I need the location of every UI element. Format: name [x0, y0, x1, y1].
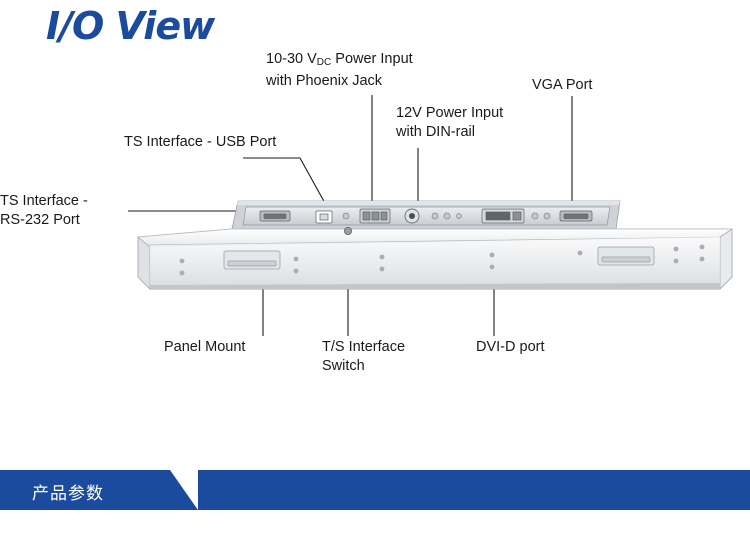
callout-dvi-d-port: DVI-D port	[476, 338, 545, 357]
callout-line-with-subscript: 10-30 VDC Power Input	[266, 50, 413, 72]
callout-line: T/S Interface	[322, 338, 405, 357]
callout-ts-interface-rs232-port: TS Interface - RS-232 Port	[0, 192, 88, 230]
footer-label: 产品参数	[32, 479, 104, 504]
callout-line: with DIN-rail	[396, 123, 503, 142]
device-illustration	[120, 185, 740, 310]
footer-banner	[0, 470, 750, 510]
callout-line-suffix: Power Input	[331, 51, 412, 67]
callout-line: RS-232 Port	[0, 211, 88, 230]
callout-vga-port: VGA Port	[532, 76, 592, 95]
footer-white-space	[0, 510, 750, 545]
subscript-dc: DC	[317, 57, 331, 68]
callout-power-input-12v-din-rail: 12V Power Input with DIN-rail	[396, 104, 503, 142]
callout-line: DVI-D port	[476, 338, 545, 357]
io-view-page: I/O View	[0, 0, 750, 545]
callout-line: Switch	[322, 357, 405, 376]
callout-ts-interface-switch: T/S Interface Switch	[322, 338, 405, 376]
callout-power-input-10-30vdc: 10-30 VDC Power Input with Phoenix Jack	[266, 50, 413, 91]
callout-panel-mount: Panel Mount	[164, 338, 245, 357]
callout-line: with Phoenix Jack	[266, 72, 413, 91]
callout-line: 12V Power Input	[396, 104, 503, 123]
callout-ts-interface-usb-port: TS Interface - USB Port	[124, 133, 276, 152]
callout-line-prefix: 10-30 V	[266, 51, 317, 67]
callout-line: Panel Mount	[164, 338, 245, 357]
callout-line: VGA Port	[532, 76, 592, 95]
callout-line: TS Interface - USB Port	[124, 133, 276, 152]
callout-line: TS Interface -	[0, 192, 88, 211]
